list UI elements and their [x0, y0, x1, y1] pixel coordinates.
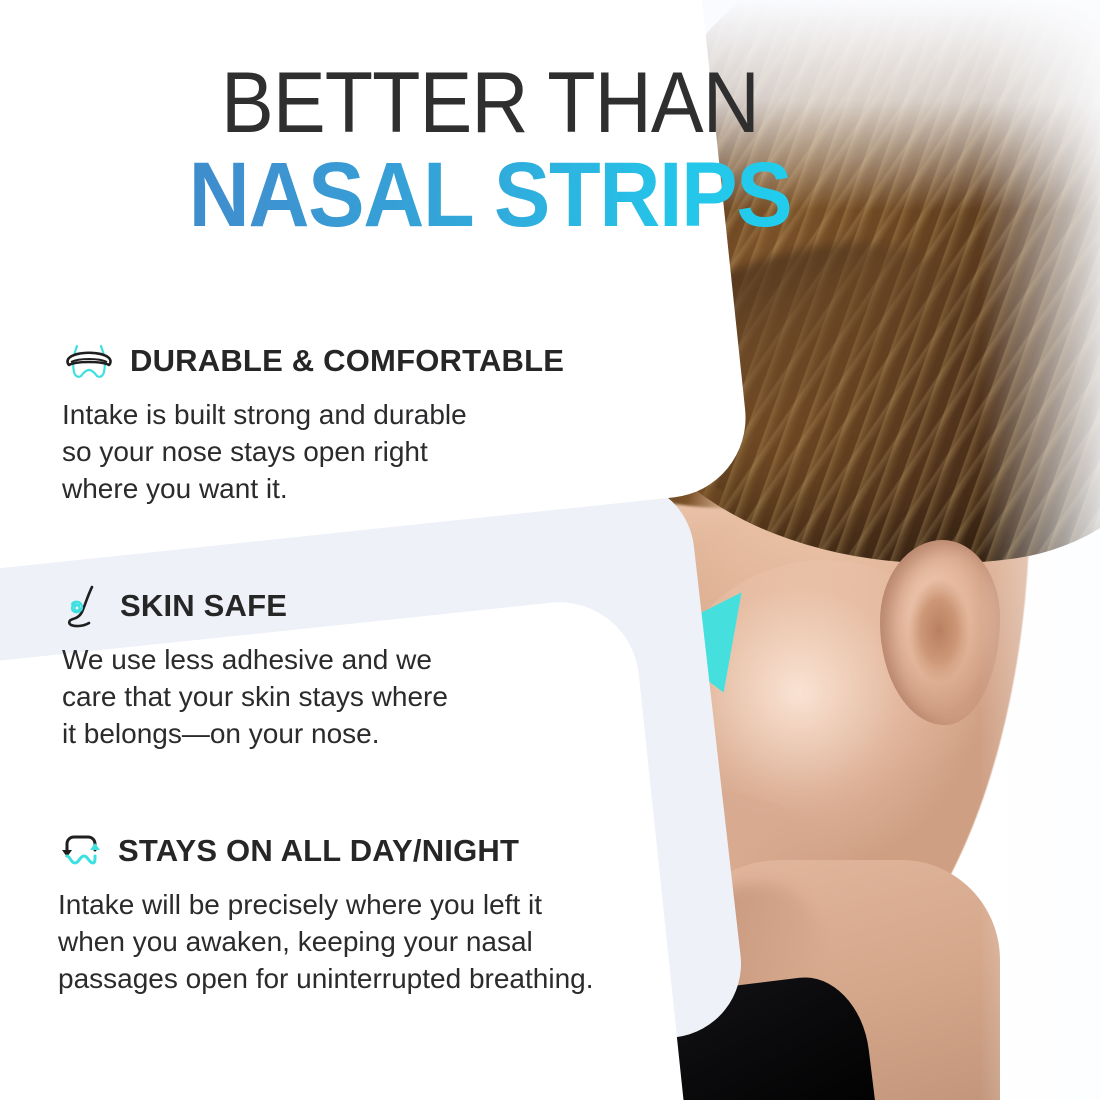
nose-profile-icon [62, 583, 106, 629]
feature-title: STAYS ON ALL DAY/NIGHT [118, 833, 519, 869]
feature-title: SKIN SAFE [120, 588, 287, 624]
feature-body-line: care that your skin stays where [62, 678, 532, 715]
feature-body: We use less adhesive and we care that yo… [62, 641, 532, 753]
feature-block-stays-on-all-day-night: STAYS ON ALL DAY/NIGHT Intake will be pr… [58, 828, 698, 998]
feature-body: Intake is built strong and durable so yo… [62, 396, 562, 508]
poster-content: BETTER THAN NASAL STRIPS D [0, 0, 1100, 1100]
promo-poster: BETTER THAN NASAL STRIPS D [0, 0, 1100, 1100]
feature-body-line: it belongs—on your nose. [62, 715, 532, 752]
feature-body-line: We use less adhesive and we [62, 641, 532, 678]
headline-line-1: BETTER THAN [39, 62, 941, 145]
feature-body-line: where you want it. [62, 470, 562, 507]
feature-block-durable-comfortable: DURABLE & COMFORTABLE Intake is built st… [62, 338, 702, 508]
feature-body-line: Intake will be precisely where you left … [58, 886, 678, 923]
feature-title: DURABLE & COMFORTABLE [130, 343, 564, 379]
headline-line-2: NASAL STRIPS [39, 151, 941, 239]
page-title: BETTER THAN NASAL STRIPS [0, 62, 980, 239]
feature-body: Intake will be precisely where you left … [58, 886, 678, 998]
nasal-dilator-icon [62, 338, 116, 384]
feature-header: STAYS ON ALL DAY/NIGHT [58, 828, 698, 874]
feature-body-line: Intake is built strong and durable [62, 396, 562, 433]
day-night-cycle-icon [58, 828, 104, 874]
feature-header: SKIN SAFE [62, 583, 702, 629]
feature-block-skin-safe: SKIN SAFE We use less adhesive and we ca… [62, 583, 702, 753]
feature-body-line: when you awaken, keeping your nasal [58, 923, 678, 960]
feature-body-line: passages open for uninterrupted breathin… [58, 960, 678, 997]
feature-body-line: so your nose stays open right [62, 433, 562, 470]
feature-header: DURABLE & COMFORTABLE [62, 338, 702, 384]
